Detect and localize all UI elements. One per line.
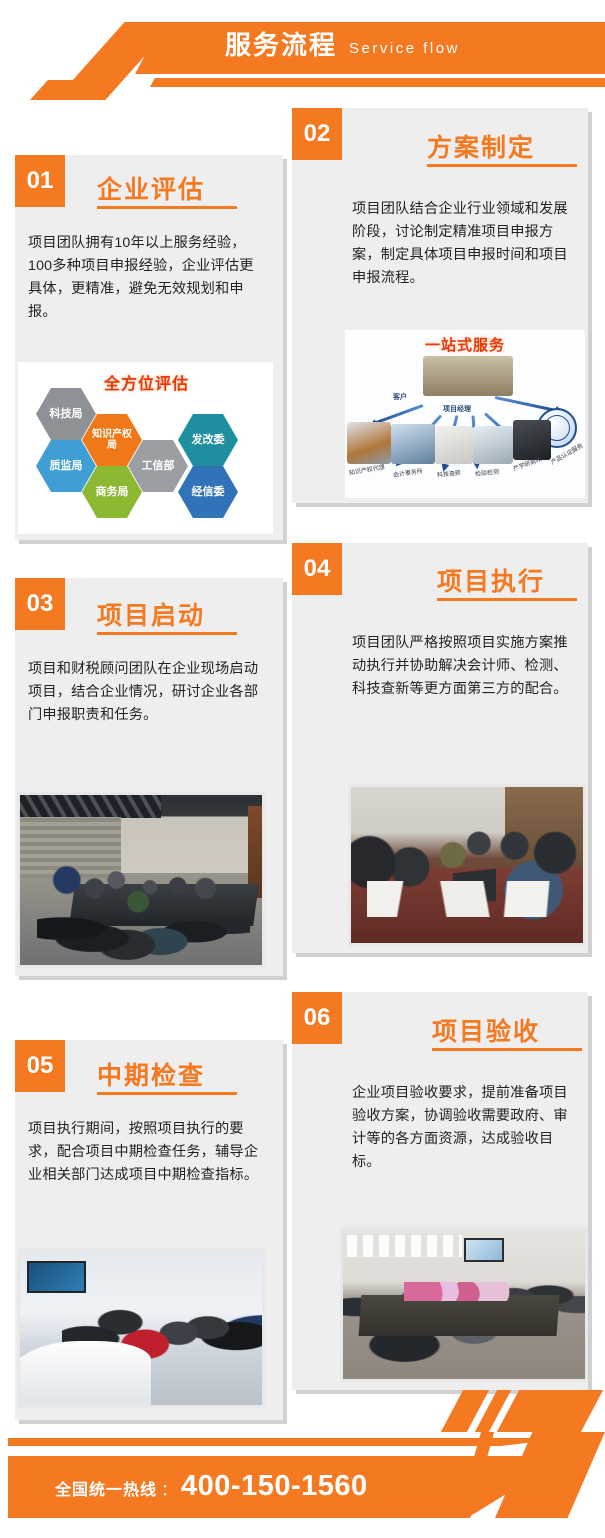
os-center-photo	[423, 356, 513, 396]
photo-content-03	[17, 792, 265, 968]
step-title-rule-04	[437, 598, 577, 601]
os-label-inspection: 检验检测	[475, 467, 500, 478]
step-badge-02: 02	[292, 108, 342, 160]
ceiling-pattern	[17, 792, 161, 818]
flower-arrangement	[404, 1282, 518, 1301]
hotline-phone[interactable]: 400-150-1560	[181, 1470, 368, 1503]
photo-content-06	[340, 1226, 588, 1382]
step-badge-03: 03	[15, 578, 65, 630]
reception-counter	[17, 1341, 151, 1408]
photo-content-04	[348, 784, 586, 946]
step-title-rule-02	[427, 164, 577, 167]
hotline-separator: ：	[161, 1476, 177, 1500]
os-thumb-3	[435, 426, 473, 464]
hotline-label: 全国统一热线	[55, 1476, 157, 1500]
os-thumb-2	[391, 424, 435, 464]
header-wedge-small	[30, 80, 90, 100]
one-stop-service-caption: 一站式服务	[425, 334, 505, 355]
os-label-ip-agency: 知识产权代理	[348, 462, 385, 477]
step-photo-03	[17, 792, 265, 968]
os-node-project-manager: 项目经理	[443, 404, 471, 414]
step-title-rule-05	[97, 1092, 237, 1095]
page-header: 服务流程 Service flow	[0, 0, 605, 100]
step-title-rule-06	[432, 1048, 582, 1051]
step-badge-04: 04	[292, 543, 342, 595]
step-photo-05	[17, 1248, 265, 1408]
step-photo-04	[348, 784, 586, 946]
page-title: 服务流程	[225, 32, 337, 58]
step-title-05: 中期检查	[97, 1056, 205, 1092]
hexagon-diagram: 全方位评估 科技局 知识产权局 质监局 工信部 商务局 发改委 经信委	[18, 362, 273, 534]
step-body-04: 项目团队严格按照项目实施方案推动执行并协助解决会计师、检测、科技查新等更方面第三…	[352, 632, 580, 701]
page-footer: 全国统一热线 ： 400-150-1560	[0, 1418, 605, 1538]
hex-fagai-wei: 发改委	[178, 414, 238, 466]
step-body-06: 企业项目验收要求，提前准备项目验收方案，协调验收需要政府、审计等的各方面资源，达…	[352, 1082, 580, 1174]
step-body-05: 项目执行期间，按照项目执行的要求，配合项目中期检查任务，辅导企业相关部门达成项目…	[28, 1118, 260, 1187]
step-title-06: 项目验收	[432, 1012, 540, 1048]
header-band-stripe	[150, 78, 605, 87]
step-title-rule-03	[97, 632, 237, 635]
step-photo-06	[340, 1226, 588, 1382]
hexagon-diagram-caption: 全方位评估	[104, 370, 189, 394]
chairs-group	[37, 880, 250, 961]
step-badge-06: 06	[292, 992, 342, 1044]
os-thumb-4	[473, 426, 513, 464]
step-body-03: 项目和财税顾问团队在企业现场启动项目，结合企业情况，研讨企业各部门申报职责和任务…	[28, 658, 260, 727]
step-title-rule-01	[97, 206, 237, 209]
step-title-03: 项目启动	[97, 596, 205, 632]
step-badge-01: 01	[15, 155, 65, 207]
footer-hotline-group: 全国统一热线 ： 400-150-1560	[55, 1470, 368, 1503]
step-badge-05: 05	[15, 1040, 65, 1092]
step-body-01: 项目团队拥有10年以上服务经验，100多种项目申报经验，企业评估更具体，更精准，…	[28, 232, 260, 324]
os-thumb-1	[347, 422, 391, 464]
os-thumb-5	[513, 420, 551, 460]
photo-content-05	[17, 1248, 265, 1408]
os-label-tech-search: 科技查新	[437, 468, 462, 479]
documents	[367, 881, 557, 917]
header-title-group: 服务流程 Service flow	[225, 32, 460, 58]
step-title-01: 企业评估	[97, 170, 205, 206]
step-body-02: 项目团队结合企业行业领域和发展阶段，讨论制定精准项目申报方案，制定具体项目申报时…	[352, 198, 580, 290]
step-title-02: 方案制定	[427, 128, 535, 164]
hex-jingxin-wei: 经信委	[178, 466, 238, 518]
wall-certificates	[347, 1235, 461, 1257]
step-title-04: 项目执行	[437, 562, 545, 598]
one-stop-service-diagram: 一站式服务 客户 项目经理 知识产权代理 会计事务所 科技查新 检验检测 产学研…	[345, 330, 585, 498]
os-node-customer: 客户	[393, 392, 407, 402]
page-subtitle: Service flow	[349, 41, 460, 58]
